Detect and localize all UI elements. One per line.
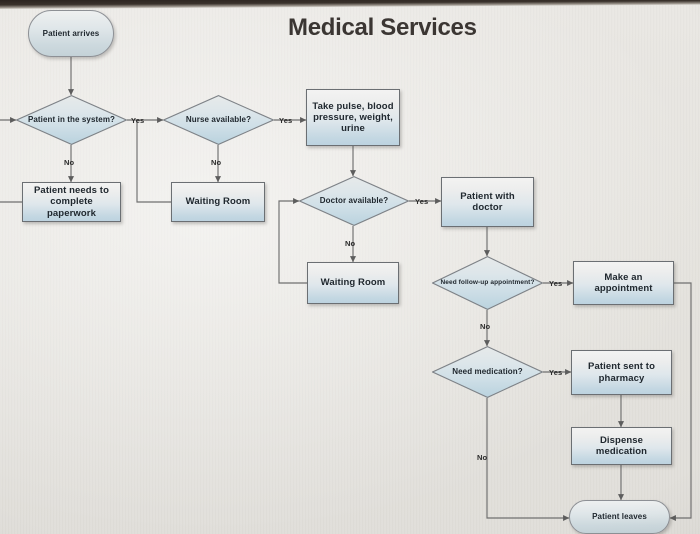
branch-label-nurse-yes: Yes [279,116,292,125]
page-title: Medical Services [288,14,477,42]
branch-label-doctor-no: No [345,239,355,248]
node-need-medication[interactable]: Need medication? [432,346,543,398]
node-label: Dispense medication [572,435,671,457]
node-patient-in-system[interactable]: Patient in the system? [16,95,127,145]
node-label: Take pulse, blood pressure, weight, urin… [307,101,399,135]
node-patient-leaves[interactable]: Patient leaves [569,500,670,534]
node-doctor-available[interactable]: Doctor available? [299,176,409,226]
branch-label-medication-yes: Yes [549,368,562,377]
node-patient-with-doctor[interactable]: Patient with doctor [441,177,534,227]
node-label: Patient with doctor [442,191,533,213]
node-label: Patient sent to pharmacy [572,361,671,383]
node-label: Waiting Room [317,277,390,288]
node-dispense-medication[interactable]: Dispense medication [571,427,672,465]
branch-label-doctor-yes: Yes [415,197,428,206]
node-make-appointment[interactable]: Make an appointment [573,261,674,305]
node-pharmacy[interactable]: Patient sent to pharmacy [571,350,672,395]
node-waiting-room-1[interactable]: Waiting Room [171,182,265,222]
branch-label-medication-no: No [477,453,487,462]
node-label: Need follow-up appointment? [436,279,538,287]
node-label: Patient needs to complete paperwork [23,185,120,219]
node-waiting-room-2[interactable]: Waiting Room [307,262,399,304]
node-label: Doctor available? [316,196,392,205]
branch-label-system-yes: Yes [131,116,144,125]
node-label: Patient arrives [39,29,104,38]
node-label: Need medication? [448,367,527,376]
branch-label-nurse-no: No [211,158,221,167]
node-paperwork[interactable]: Patient needs to complete paperwork [22,182,121,222]
node-vitals[interactable]: Take pulse, blood pressure, weight, urin… [306,89,400,146]
branch-label-followup-yes: Yes [549,279,562,288]
node-label: Nurse available? [182,115,255,124]
edge-medication-no-to-end [487,398,569,518]
node-label: Waiting Room [182,196,255,207]
flowchart-screenshot: paperwork --> nurse available --> waitin… [0,0,700,534]
node-label: Make an appointment [574,272,673,294]
node-nurse-available[interactable]: Nurse available? [163,95,274,145]
node-need-followup[interactable]: Need follow-up appointment? [432,256,543,310]
node-label: Patient leaves [588,512,651,521]
edge-appointment-to-end [670,283,691,518]
branch-label-followup-no: No [480,322,490,331]
branch-label-system-no: No [64,158,74,167]
node-patient-arrives[interactable]: Patient arrives [28,10,114,57]
node-label: Patient in the system? [24,115,119,124]
